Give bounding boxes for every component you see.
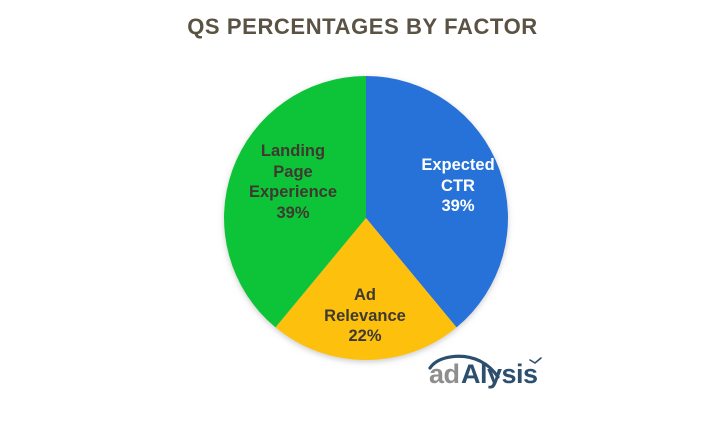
chart-title: QS PERCENTAGES BY FACTOR: [0, 14, 725, 40]
logo-text-ad: ad: [429, 359, 460, 389]
logo-text-alysis: Alysis: [461, 359, 538, 389]
adalysis-logo[interactable]: ad Alysis: [428, 352, 568, 392]
pie-chart-graphic: [206, 58, 526, 378]
pie-chart-figure: QS PERCENTAGES BY FACTOR Expected CTR 39…: [0, 0, 725, 424]
adalysis-logo-svg: ad Alysis: [428, 352, 568, 392]
pie-svg: [206, 58, 526, 378]
